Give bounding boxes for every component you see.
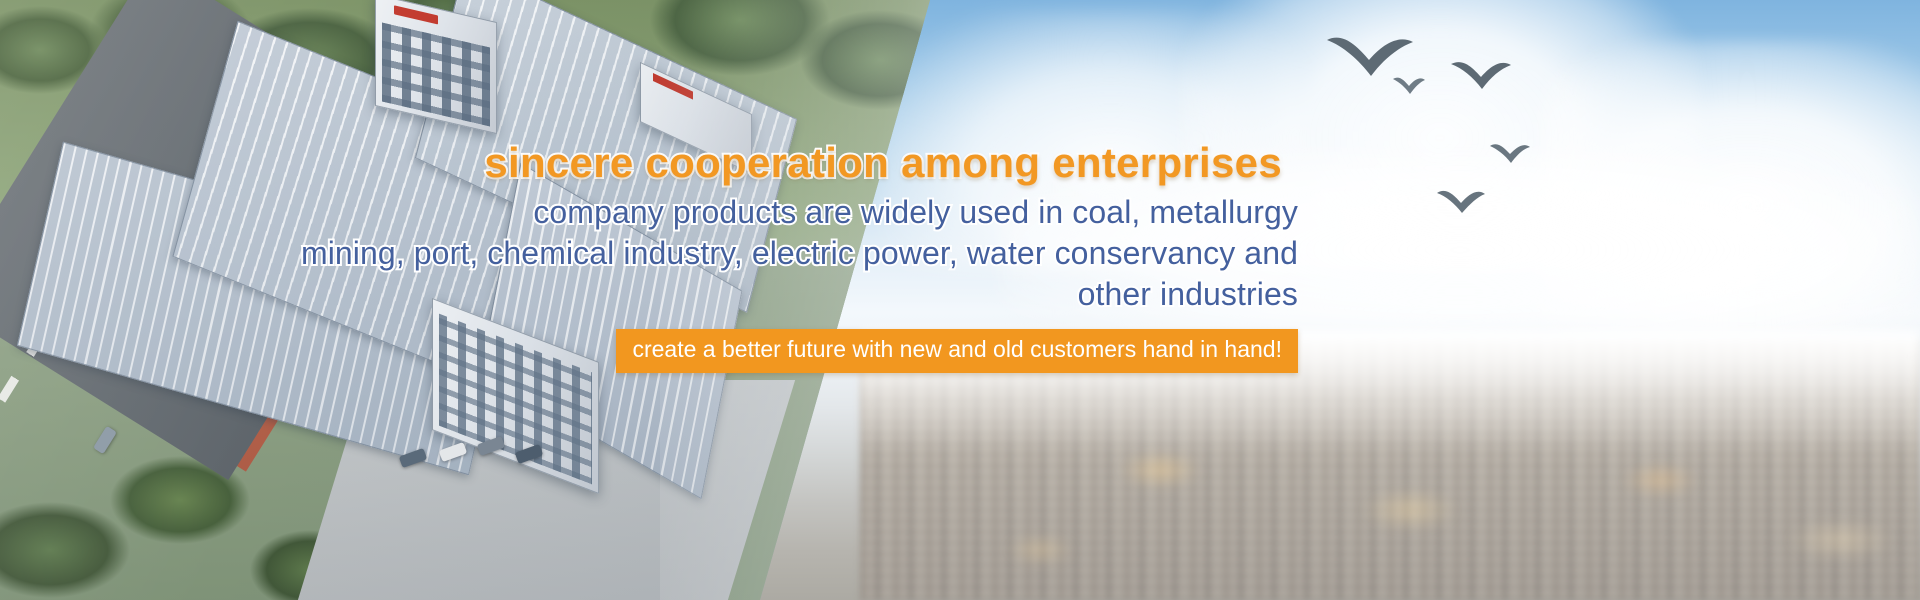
- bird-icon: [1450, 56, 1512, 94]
- banner-subline-1: company products are widely used in coal…: [300, 192, 1300, 233]
- bird-icon: [1392, 74, 1426, 96]
- cta-wrapper: create a better future with new and old …: [300, 329, 1300, 373]
- cta-banner[interactable]: create a better future with new and old …: [616, 329, 1298, 373]
- banner-headline: sincere cooperation among enterprises: [300, 140, 1300, 186]
- bird-icon: [1489, 140, 1531, 166]
- bird-icon: [1436, 186, 1486, 216]
- hero-banner: sincere cooperation among enterprises co…: [0, 0, 1920, 600]
- banner-subline-2: mining, port, chemical industry, electri…: [300, 233, 1300, 315]
- banner-copy: sincere cooperation among enterprises co…: [300, 140, 1300, 400]
